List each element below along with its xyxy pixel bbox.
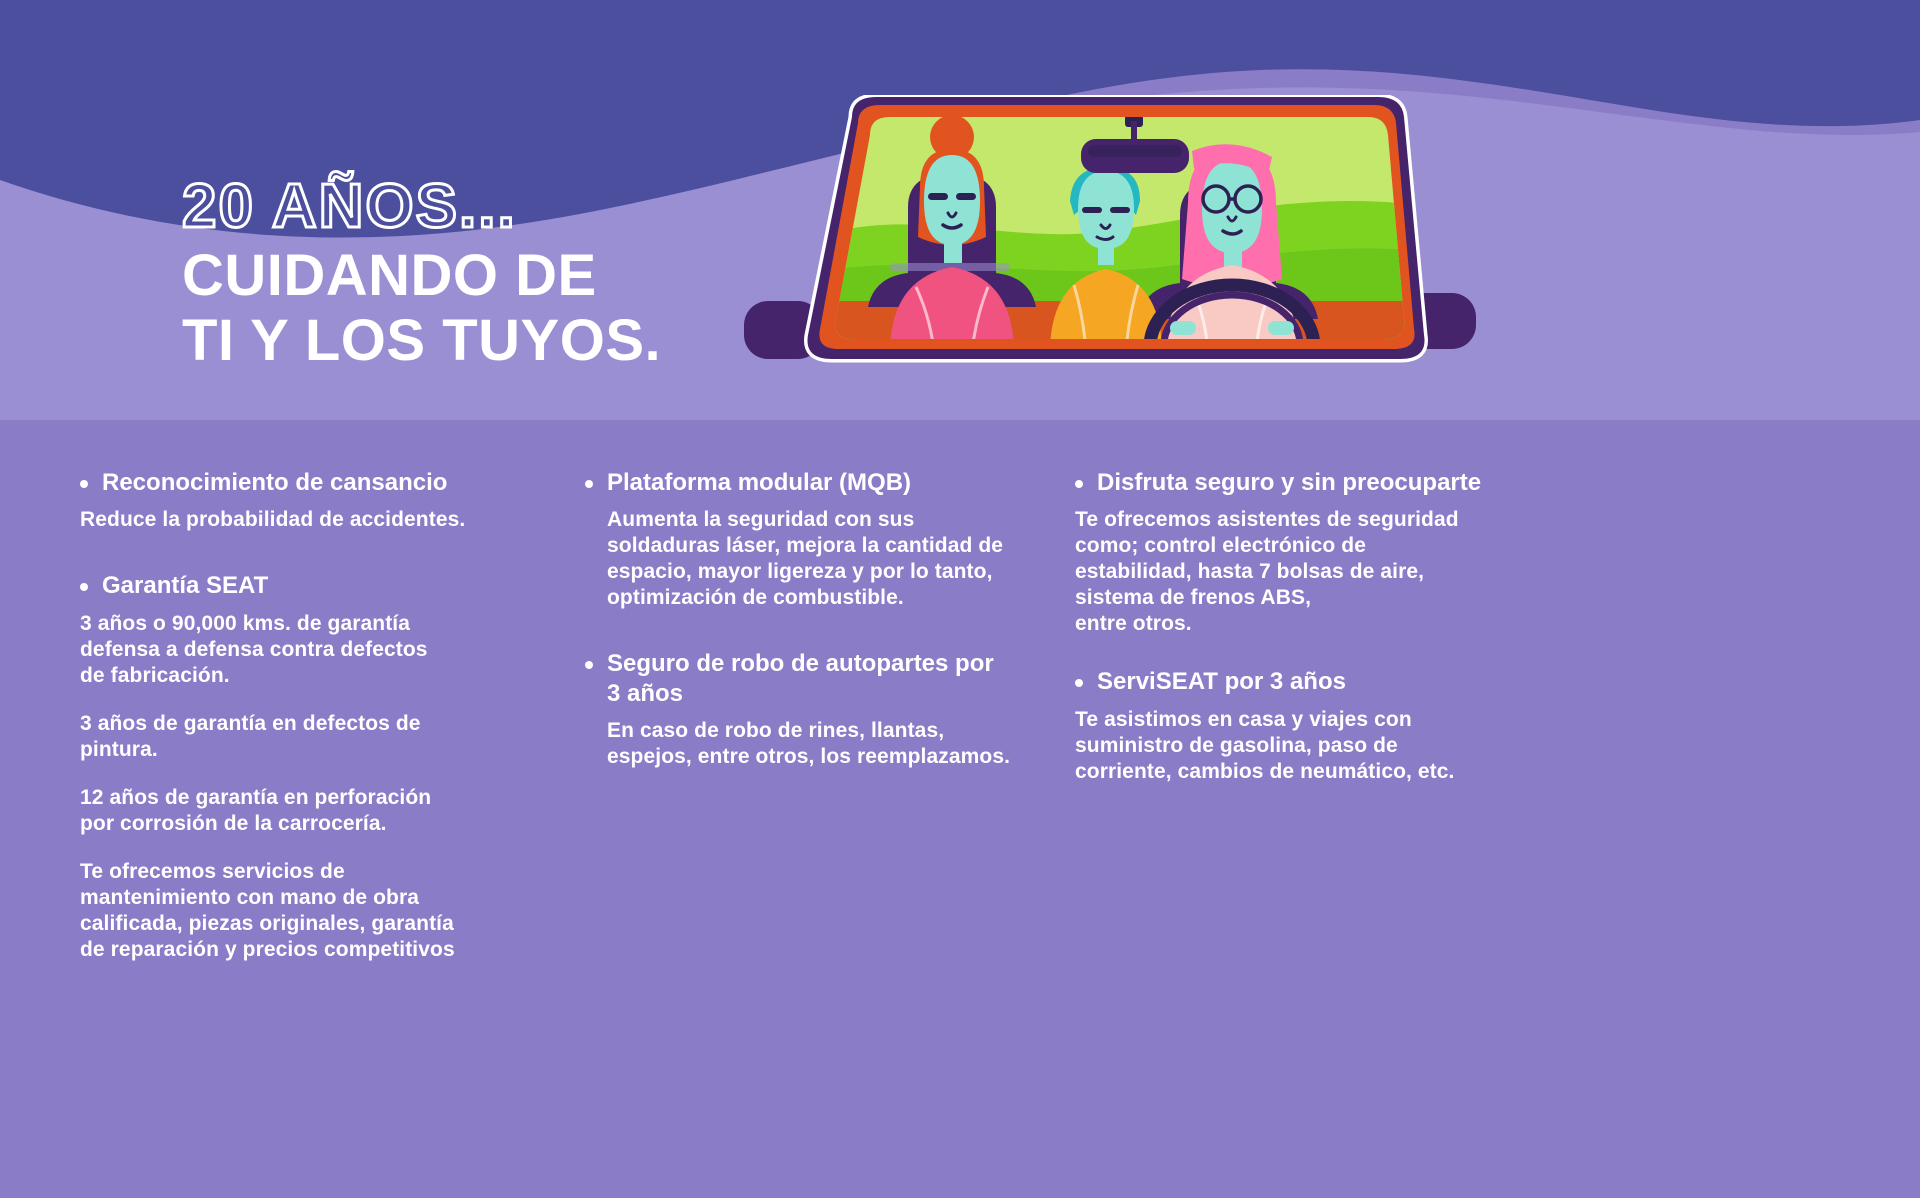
headline-line-2: CUIDANDO DE bbox=[182, 244, 661, 309]
line: por corrosión de la carrocería. bbox=[80, 811, 500, 837]
line: suministro de gasolina, paso de bbox=[1075, 733, 1495, 759]
line: espacio, mayor ligereza y por lo tanto, bbox=[607, 559, 1005, 585]
line: Te ofrecemos asistentes de seguridad bbox=[1075, 507, 1495, 533]
feature-serviseat: ServiSEAT por 3 años Te asistimos en cas… bbox=[1075, 667, 1495, 784]
line: entre otros. bbox=[1075, 611, 1495, 637]
column-2: Plataforma modular (MQB) Aumenta la segu… bbox=[585, 468, 1005, 772]
family-in-car-illustration bbox=[740, 95, 1480, 385]
column-3: Disfruta seguro y sin preocuparte Te ofr… bbox=[1075, 468, 1495, 787]
feature-heading: Garantía SEAT bbox=[80, 571, 500, 600]
paragraph: 3 años de garantía en defectos de pintur… bbox=[80, 711, 500, 763]
line: soldaduras láser, mejora la cantidad de bbox=[607, 533, 1005, 559]
line: Aumenta la seguridad con sus bbox=[607, 507, 1005, 533]
paragraph: 3 años o 90,000 kms. de garantía defensa… bbox=[80, 611, 500, 689]
paragraph: Aumenta la seguridad con sus soldaduras … bbox=[607, 507, 1005, 611]
feature-body: En caso de robo de rines, llantas, espej… bbox=[585, 718, 1005, 770]
line: 3 años de garantía en defectos de bbox=[80, 711, 500, 737]
feature-heading-text: Seguro de robo de autopartes por 3 años bbox=[607, 649, 1005, 708]
line: estabilidad, hasta 7 bolsas de aire, bbox=[1075, 559, 1495, 585]
line: como; control electrónico de bbox=[1075, 533, 1495, 559]
paragraph: Te asistimos en casa y viajes con sumini… bbox=[1075, 707, 1495, 785]
feature-plataforma-modular: Plataforma modular (MQB) Aumenta la segu… bbox=[585, 468, 1005, 611]
line: calificada, piezas originales, garantía bbox=[80, 911, 500, 937]
feature-reconocimiento-de-cansancio: Reconocimiento de cansancio Reduce la pr… bbox=[80, 468, 500, 533]
bullet-dot-icon bbox=[80, 583, 88, 591]
headline: 20 AÑOS... CUIDANDO DE TI Y LOS TUYOS. bbox=[182, 176, 661, 374]
bullet-dot-icon bbox=[80, 480, 88, 488]
line: Te asistimos en casa y viajes con bbox=[1075, 707, 1495, 733]
line: mantenimiento con mano de obra bbox=[80, 885, 500, 911]
line: pintura. bbox=[80, 737, 500, 763]
line: optimización de combustible. bbox=[607, 585, 1005, 611]
bullet-dot-icon bbox=[585, 661, 593, 669]
line: defensa a defensa contra defectos bbox=[80, 637, 500, 663]
paragraph: 12 años de garantía en perforación por c… bbox=[80, 785, 500, 837]
line: En caso de robo de rines, llantas, bbox=[607, 718, 1005, 744]
line: Reduce la probabilidad de accidentes. bbox=[80, 507, 500, 533]
bullet-dot-icon bbox=[1075, 480, 1083, 488]
feature-body: Aumenta la seguridad con sus soldaduras … bbox=[585, 507, 1005, 611]
paragraph: Reduce la probabilidad de accidentes. bbox=[80, 507, 500, 533]
line: 12 años de garantía en perforación bbox=[80, 785, 500, 811]
feature-body: Te asistimos en casa y viajes con sumini… bbox=[1075, 707, 1495, 785]
windshield-scene bbox=[820, 115, 1420, 353]
feature-heading-text: Reconocimiento de cansancio bbox=[102, 468, 500, 497]
paragraph: Te ofrecemos servicios de mantenimiento … bbox=[80, 859, 500, 963]
line: de fabricación. bbox=[80, 663, 500, 689]
bullet-dot-icon bbox=[585, 480, 593, 488]
feature-heading-text: Plataforma modular (MQB) bbox=[607, 468, 1005, 497]
headline-line-1: 20 AÑOS... bbox=[182, 176, 661, 238]
line: sistema de frenos ABS, bbox=[1075, 585, 1495, 611]
feature-body: 3 años o 90,000 kms. de garantía defensa… bbox=[80, 611, 500, 963]
line: 3 años o 90,000 kms. de garantía bbox=[80, 611, 500, 637]
feature-seguro-robo-autopartes: Seguro de robo de autopartes por 3 años … bbox=[585, 649, 1005, 770]
feature-heading: Plataforma modular (MQB) bbox=[585, 468, 1005, 497]
line: Te ofrecemos servicios de bbox=[80, 859, 500, 885]
feature-heading-text: ServiSEAT por 3 años bbox=[1097, 667, 1495, 696]
paragraph: En caso de robo de rines, llantas, espej… bbox=[607, 718, 1005, 770]
feature-garantia-seat: Garantía SEAT 3 años o 90,000 kms. de ga… bbox=[80, 571, 500, 963]
feature-body: Te ofrecemos asistentes de seguridad com… bbox=[1075, 507, 1495, 637]
feature-heading: Disfruta seguro y sin preocuparte bbox=[1075, 468, 1495, 497]
feature-disfruta-seguro: Disfruta seguro y sin preocuparte Te ofr… bbox=[1075, 468, 1495, 637]
paragraph: Te ofrecemos asistentes de seguridad com… bbox=[1075, 507, 1495, 637]
feature-heading-text: Disfruta seguro y sin preocuparte bbox=[1097, 468, 1495, 497]
line: de reparación y precios competitivos bbox=[80, 937, 500, 963]
feature-heading: ServiSEAT por 3 años bbox=[1075, 667, 1495, 696]
feature-heading: Seguro de robo de autopartes por 3 años bbox=[585, 649, 1005, 708]
headline-line-3: TI Y LOS TUYOS. bbox=[182, 309, 661, 374]
feature-body: Reduce la probabilidad de accidentes. bbox=[80, 507, 500, 533]
column-1: Reconocimiento de cansancio Reduce la pr… bbox=[80, 468, 500, 965]
bullet-dot-icon bbox=[1075, 679, 1083, 687]
feature-heading: Reconocimiento de cansancio bbox=[80, 468, 500, 497]
line: espejos, entre otros, los reemplazamos. bbox=[607, 744, 1005, 770]
infographic-canvas: 20 AÑOS... CUIDANDO DE TI Y LOS TUYOS. bbox=[0, 0, 1920, 1198]
feature-heading-text: Garantía SEAT bbox=[102, 571, 500, 600]
line: corriente, cambios de neumático, etc. bbox=[1075, 759, 1495, 785]
